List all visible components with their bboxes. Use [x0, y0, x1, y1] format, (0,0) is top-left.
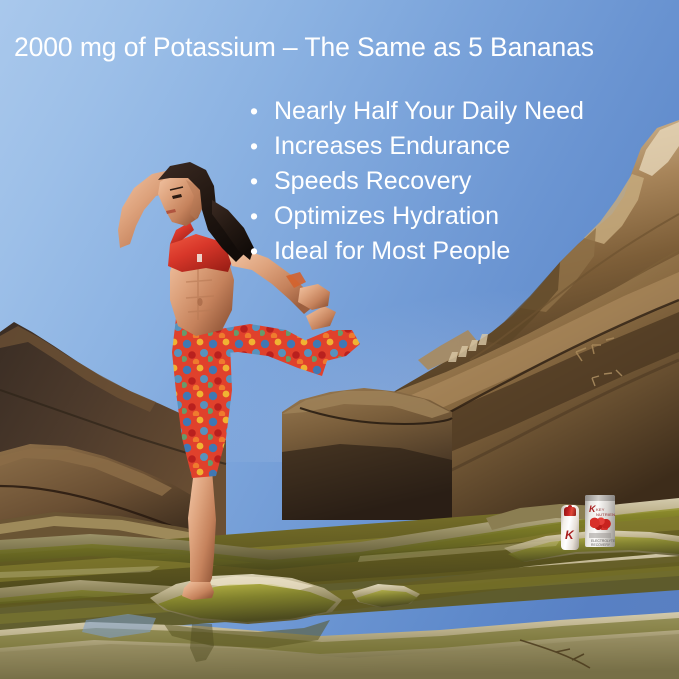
model-standing-leg: [188, 470, 216, 594]
list-item: • Optimizes Hydration: [250, 199, 584, 234]
list-item-label: Increases Endurance: [274, 129, 510, 164]
pouch-subtitle: ELECTROLYTE RECOVERY: [591, 539, 615, 547]
supplement-pouch: K KEY NUTRIENTS ELECTROLYTE RECOVERY: [585, 495, 615, 547]
bullet-marker-icon: •: [250, 164, 274, 199]
list-item-label: Speeds Recovery: [274, 164, 471, 199]
cliff-mid-block-shadow: [282, 444, 452, 520]
list-item-label: Ideal for Most People: [274, 234, 510, 269]
bullet-marker-icon: •: [250, 129, 274, 164]
list-item: • Increases Endurance: [250, 129, 584, 164]
list-item: • Nearly Half Your Daily Need: [250, 94, 584, 129]
pouch-brand-logo: K: [589, 505, 596, 514]
bullet-marker-icon: •: [250, 199, 274, 234]
pouch-brand-name: KEY NUTRIENTS: [596, 507, 615, 517]
list-item: • Ideal for Most People: [250, 234, 584, 269]
model-raised-shin: [304, 330, 360, 362]
bullet-marker-icon: •: [250, 94, 274, 129]
headline: 2000 mg of Potassium – The Same as 5 Ban…: [14, 30, 594, 64]
benefit-list: • Nearly Half Your Daily Need • Increase…: [250, 94, 584, 269]
pouch-fruit-image: [590, 517, 611, 530]
bottle-cap: [564, 507, 576, 516]
model-raised-ankle: [306, 306, 336, 330]
list-item-label: Nearly Half Your Daily Need: [274, 94, 584, 129]
product-group: K K KEY NUTRIENTS ELECTROLYTE RECOVERY: [561, 495, 633, 550]
list-item-label: Optimizes Hydration: [274, 199, 499, 234]
bullet-marker-icon: •: [250, 234, 274, 269]
water-bottle: K: [561, 505, 579, 550]
pouch-label-strip: [589, 533, 611, 538]
model-navel: [197, 298, 202, 306]
list-item: • Speeds Recovery: [250, 164, 584, 199]
pouch-seal: [585, 495, 615, 501]
advertisement-banner: K K KEY NUTRIENTS ELECTROLYTE RECOVERY 2…: [0, 0, 679, 679]
model-bra-logo: [197, 254, 202, 262]
bottle-brand-logo: K: [565, 529, 574, 541]
